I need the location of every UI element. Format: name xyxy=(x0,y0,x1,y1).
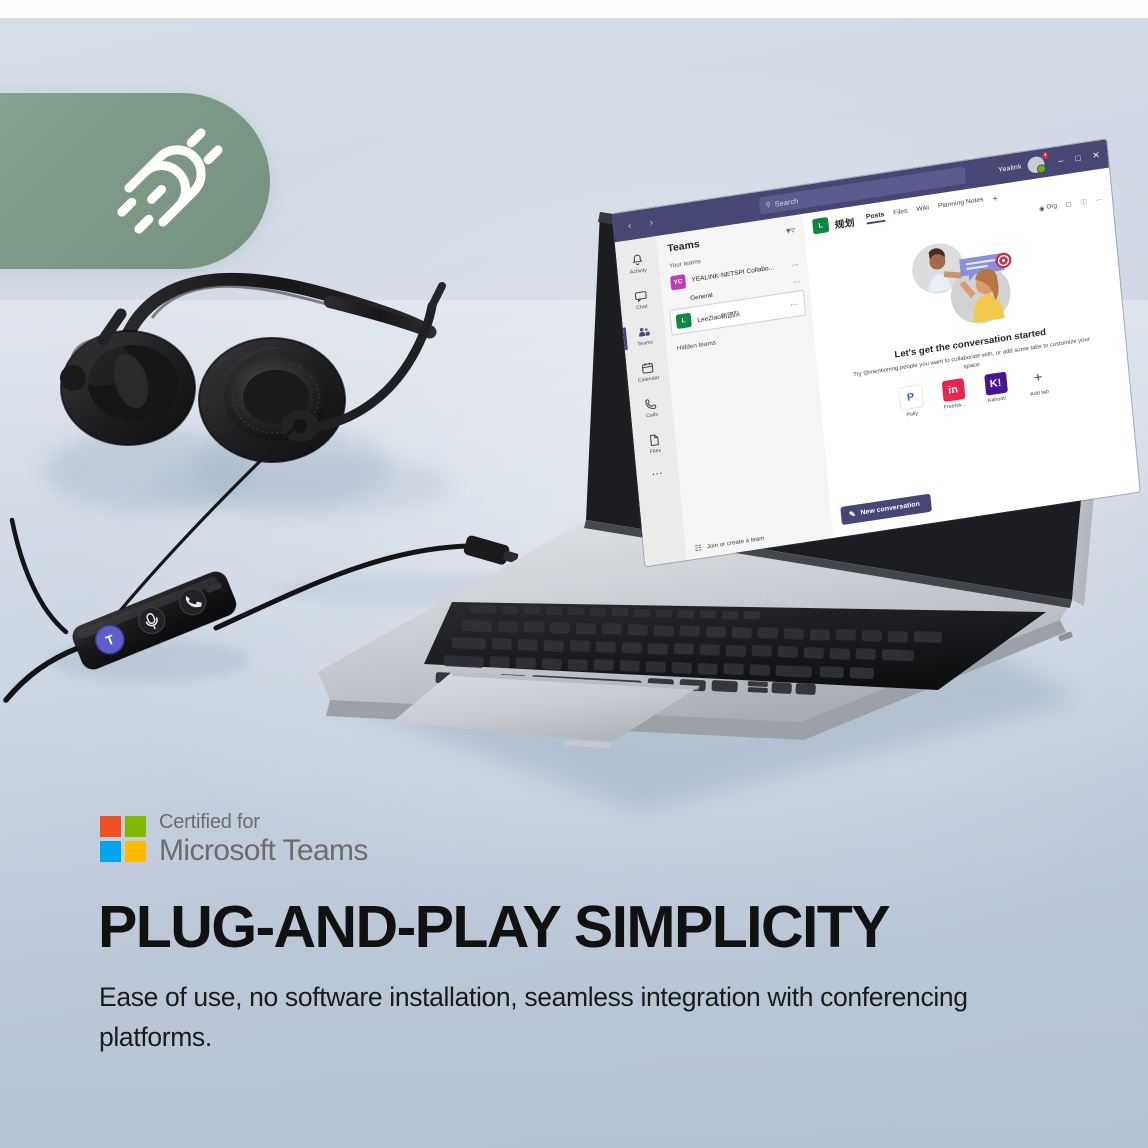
page-title: PLUG-AND-PLAY SIMPLICITY xyxy=(98,898,1098,957)
overflow-icon[interactable]: ⋯ xyxy=(1095,195,1102,204)
minimize-button[interactable]: – xyxy=(1058,156,1064,165)
maximize-button[interactable]: □ xyxy=(1075,153,1081,162)
join-create-label: Join or create a team xyxy=(707,535,765,550)
add-tab-button[interactable]: + xyxy=(992,193,998,205)
sidebar-item-files[interactable]: Files xyxy=(632,423,677,465)
ms-square-blue xyxy=(100,841,121,862)
team-avatar: L xyxy=(676,313,692,329)
calendar-icon xyxy=(640,360,655,375)
freehand-icon: in xyxy=(941,378,965,402)
app-tile-kahoot[interactable]: K! Kahoot! xyxy=(980,371,1013,407)
sidebar-label-chat: Chat xyxy=(636,304,648,311)
org-button[interactable]: ◉ Org xyxy=(1039,202,1058,212)
sidebar-label-calendar: Calendar xyxy=(638,375,660,384)
back-icon[interactable]: ‹ xyxy=(623,219,637,233)
laptop-screen: ‹ › ⚲ Search Yealink 4 – □ ✕ xyxy=(612,139,1140,566)
app-tile-polly[interactable]: P Polly xyxy=(895,384,928,420)
app-tile-label: Kahoot! xyxy=(988,396,1007,404)
ms-square-yellow xyxy=(125,841,146,862)
team-name: LeeZiao新团队 xyxy=(697,301,785,324)
nav-arrows[interactable]: ‹ › xyxy=(623,215,659,233)
new-conversation-button[interactable]: ✎ New conversation xyxy=(840,494,931,526)
bell-icon xyxy=(630,252,645,267)
polly-icon: P xyxy=(898,384,924,410)
teams-icon xyxy=(637,324,652,339)
more-dots-icon[interactable]: ⋯ xyxy=(651,467,664,481)
pane-title: Teams xyxy=(667,238,700,254)
eye-icon: ◉ xyxy=(1039,204,1045,212)
overflow-icon[interactable]: ⋯ xyxy=(790,300,798,309)
app-tile-label: Add tab xyxy=(1030,389,1049,397)
forward-icon[interactable]: › xyxy=(644,215,658,229)
avatar[interactable]: 4 xyxy=(1027,155,1045,174)
app-tile-label: Polly xyxy=(906,411,918,418)
tab-files[interactable]: Files xyxy=(893,208,908,221)
sidebar-label-files: Files xyxy=(650,448,662,455)
search-placeholder: Search xyxy=(774,196,798,208)
user-name: Yealink xyxy=(998,163,1022,173)
files-icon xyxy=(647,432,662,447)
conversation-illustration xyxy=(892,222,1038,341)
channel-title: 规划 xyxy=(834,213,855,230)
notification-badge: 4 xyxy=(1042,151,1049,159)
tab-posts[interactable]: Posts xyxy=(866,211,885,224)
kahoot-icon: K! xyxy=(984,372,1008,396)
new-conversation-label: New conversation xyxy=(860,501,920,517)
filter-icon[interactable]: ▾▿ xyxy=(786,224,796,236)
overflow-icon[interactable]: ⋯ xyxy=(793,278,801,287)
plus-icon: + xyxy=(1026,365,1050,389)
info-icon[interactable]: ⓘ xyxy=(1080,197,1087,206)
sidebar-label-activity: Activity xyxy=(630,267,648,275)
ms-square-red xyxy=(100,816,121,837)
app-tile-freehand[interactable]: in Freeha... xyxy=(937,377,970,413)
phone-icon xyxy=(643,396,658,411)
sidebar-label-teams: Teams xyxy=(637,339,653,347)
tab-wiki[interactable]: Wiki xyxy=(916,205,930,217)
certified-for-microsoft-teams-badge: Certified for Microsoft Teams xyxy=(100,812,368,866)
channel-main: L 规划 Posts Files Wiki Planning Notes + ◉… xyxy=(803,168,1140,538)
join-team-icon: ☷ xyxy=(694,543,702,553)
sidebar-label-calls: Calls xyxy=(646,412,658,419)
microsoft-teams-app: ‹ › ⚲ Search Yealink 4 – □ ✕ xyxy=(612,139,1140,566)
overflow-icon[interactable]: ⋯ xyxy=(791,260,799,269)
window-controls: – □ ✕ xyxy=(1058,150,1100,165)
marketing-banner: T xyxy=(0,0,1148,1148)
org-label: Org xyxy=(1046,202,1057,210)
app-tile-label: Freeha... xyxy=(944,402,966,411)
app-tile-add-tab[interactable]: + Add tab xyxy=(1022,365,1055,401)
certification-text: Certified for Microsoft Teams xyxy=(159,812,368,866)
channel-team-avatar: L xyxy=(812,217,829,235)
search-icon: ⚲ xyxy=(765,201,771,209)
microsoft-logo xyxy=(100,816,146,862)
page-subcopy: Ease of use, no software installation, s… xyxy=(99,977,999,1058)
close-button[interactable]: ✕ xyxy=(1092,150,1100,160)
microsoft-teams-label: Microsoft Teams xyxy=(159,836,368,866)
channel-name: General xyxy=(690,292,713,302)
meet-now-icon[interactable]: ☐ xyxy=(1066,200,1072,208)
ms-square-green xyxy=(125,816,146,837)
chat-icon xyxy=(633,288,648,303)
presence-indicator xyxy=(1037,163,1047,173)
compose-icon: ✎ xyxy=(849,510,856,520)
team-avatar: YC xyxy=(670,274,686,290)
certified-for-label: Certified for xyxy=(159,812,368,832)
